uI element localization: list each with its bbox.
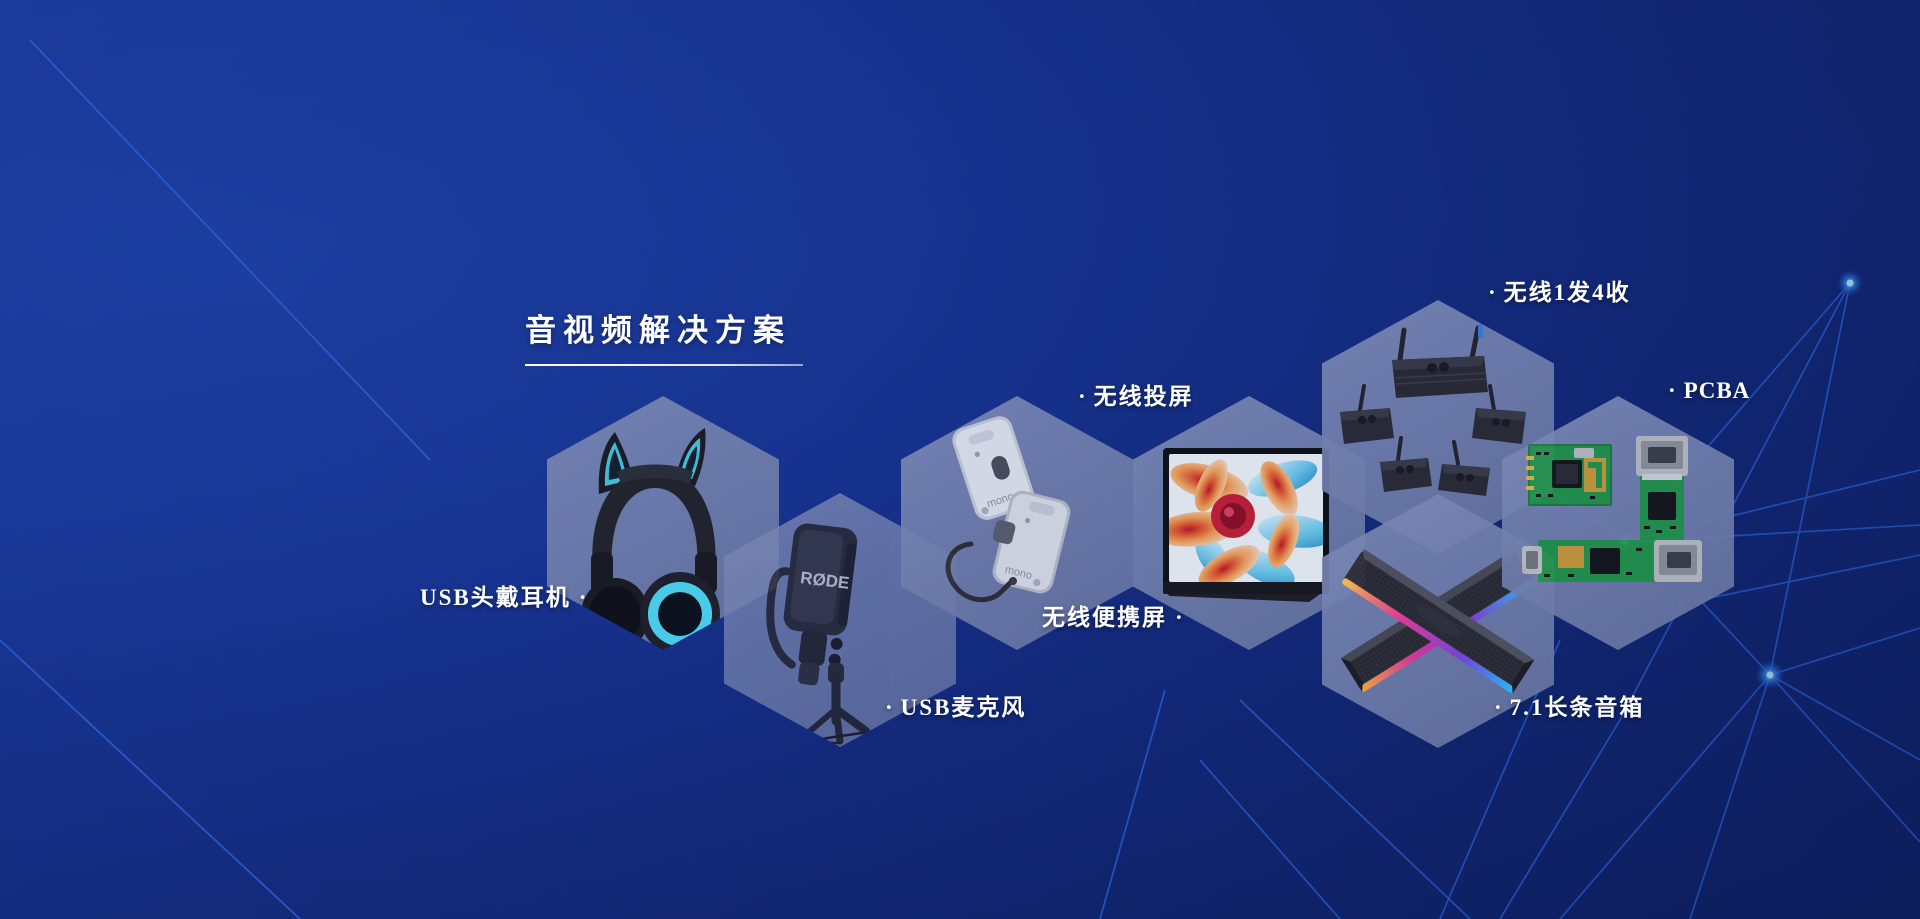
page-title: 音视频解决方案	[525, 315, 815, 346]
banner-stage: 音视频解决方案	[0, 0, 1920, 919]
bullet-usb-headset: ·	[579, 585, 587, 610]
product-label-soundbar-71: ·7.1长条音箱	[1494, 688, 1644, 722]
page-title-block: 音视频解决方案	[525, 315, 815, 366]
product-label-text-wireless-1t4r: 无线1发4收	[1504, 280, 1631, 305]
product-label-text-wireless-portable-monitor: 无线便携屏	[1042, 605, 1167, 630]
product-label-text-pcba: PCBA	[1684, 378, 1751, 403]
bullet-wireless-casting: ·	[1078, 384, 1086, 409]
product-label-usb-microphone: ·USB麦克风	[885, 688, 1026, 722]
product-label-text-soundbar-71: 7.1长条音箱	[1510, 695, 1645, 720]
product-label-text-usb-microphone: USB麦克风	[901, 695, 1027, 720]
title-underline	[525, 364, 803, 366]
bullet-usb-microphone: ·	[885, 695, 893, 720]
bullet-wireless-portable-monitor: ·	[1175, 605, 1183, 630]
product-label-wireless-casting: ·无线投屏	[1078, 377, 1194, 411]
bullet-wireless-1t4r: ·	[1488, 280, 1496, 305]
product-label-wireless-1t4r: ·无线1发4收	[1488, 273, 1631, 307]
product-label-text-usb-headset: USB头戴耳机	[420, 585, 571, 610]
product-label-wireless-portable-monitor: 无线便携屏·	[1042, 598, 1183, 632]
bullet-pcba: ·	[1668, 378, 1676, 403]
bullet-soundbar-71: ·	[1494, 695, 1502, 720]
product-label-pcba: ·PCBA	[1668, 378, 1750, 404]
product-label-usb-headset: USB头戴耳机·	[420, 578, 586, 612]
product-label-text-wireless-casting: 无线投屏	[1094, 384, 1194, 409]
